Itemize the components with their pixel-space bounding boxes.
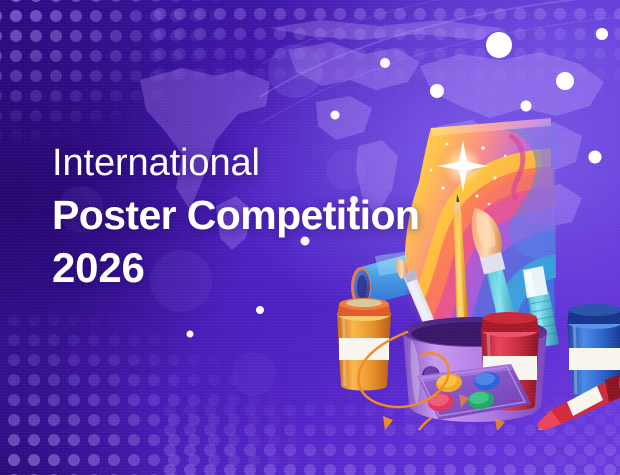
mesh-texture-overlay	[0, 0, 620, 475]
promotional-banner: International Poster Competition 2026	[0, 0, 620, 475]
